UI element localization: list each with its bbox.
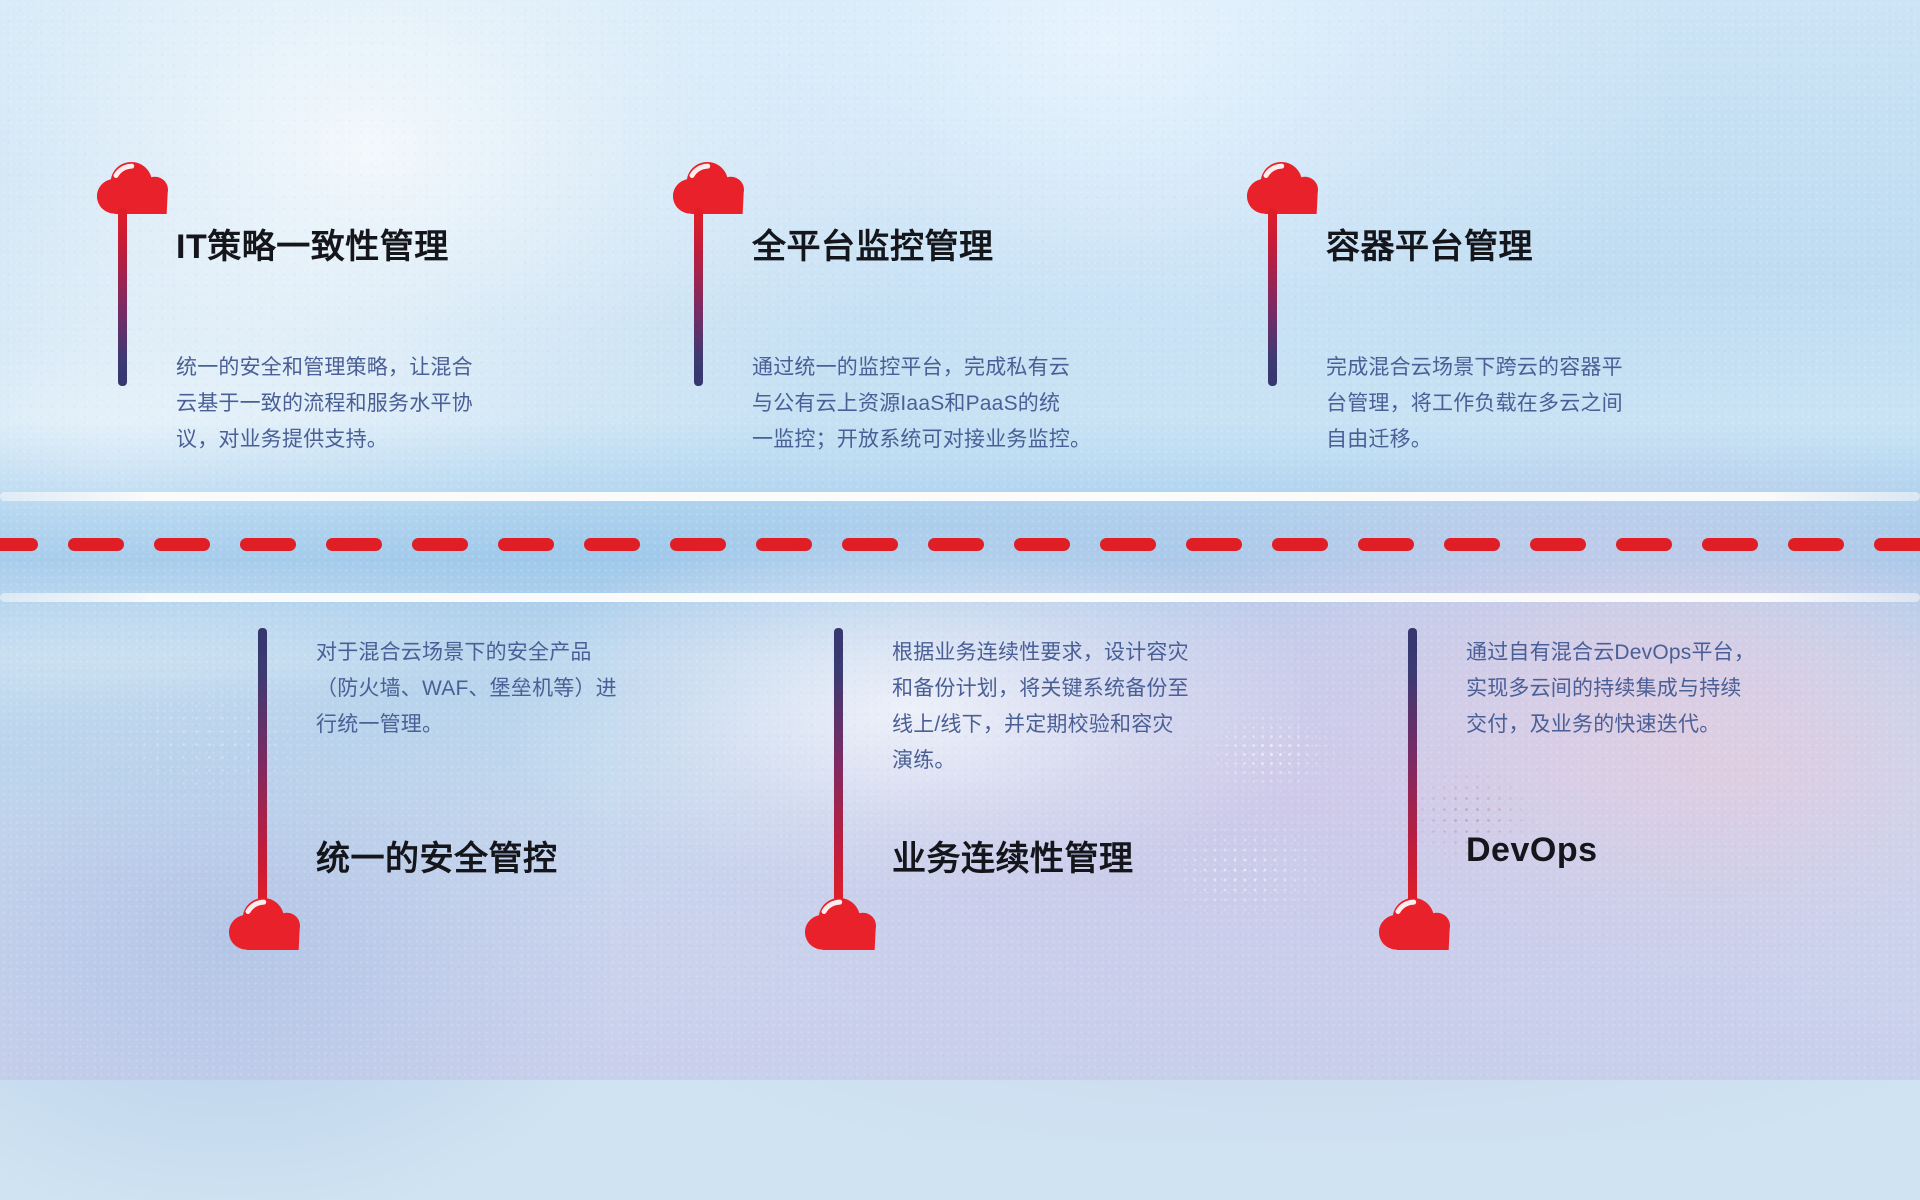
divider-dash [928, 538, 984, 551]
divider-dash [1616, 538, 1672, 551]
connector-stem [834, 628, 843, 908]
divider-dash [1100, 538, 1156, 551]
divider-dash [842, 538, 898, 551]
body-line: 交付，及业务的快速迭代。 [1466, 707, 1755, 743]
divider-dash [240, 538, 296, 551]
connector-stem [118, 208, 127, 386]
top-column-body: 统一的安全和管理策略，让混合 云基于一致的流程和服务水平协 议，对业务提供支持。 [176, 350, 473, 458]
cloud-icon [228, 896, 300, 952]
body-line: 完成混合云场景下跨云的容器平 [1326, 350, 1623, 386]
bottom-column-body: 根据业务连续性要求，设计容灾 和备份计划，将关键系统备份至 线上/线下，并定期校… [892, 635, 1189, 779]
divider-dash [326, 538, 382, 551]
bottom-column-title: DevOps [1466, 831, 1598, 870]
divider-dash [584, 538, 640, 551]
decorative-dots-c [1130, 805, 1360, 935]
body-line: 一监控；开放系统可对接业务监控。 [752, 422, 1091, 458]
connector-stem [694, 208, 703, 386]
top-column-title: IT策略一致性管理 [176, 219, 449, 268]
divider-band [0, 492, 1920, 602]
divider-dash [68, 538, 124, 551]
divider-dash [0, 538, 38, 551]
divider-dash [756, 538, 812, 551]
cloud-icon [96, 160, 168, 216]
divider-dash [1444, 538, 1500, 551]
body-line: 云基于一致的流程和服务水平协 [176, 386, 473, 422]
body-line: 通过自有混合云DevOps平台， [1466, 635, 1755, 671]
body-line: 通过统一的监控平台，完成私有云 [752, 350, 1091, 386]
body-line: 统一的安全和管理策略，让混合 [176, 350, 473, 386]
connector-stem [1408, 628, 1417, 908]
top-column-title: 容器平台管理 [1326, 219, 1533, 268]
cloud-icon [804, 896, 876, 952]
bottom-column-title: 统一的安全管控 [316, 831, 558, 880]
body-line: 演练。 [892, 743, 1189, 779]
divider-dash [1358, 538, 1414, 551]
divider-dash [1186, 538, 1242, 551]
divider-dash [412, 538, 468, 551]
divider-rule-bottom [0, 593, 1920, 602]
body-line: 行统一管理。 [316, 707, 617, 743]
connector-stem [258, 628, 267, 908]
cloud-icon [1378, 896, 1450, 952]
body-line: 自由迁移。 [1326, 422, 1623, 458]
body-line: 实现多云间的持续集成与持续 [1466, 671, 1755, 707]
divider-dash [1014, 538, 1070, 551]
body-line: 线上/线下，并定期校验和容灾 [892, 707, 1189, 743]
body-line: 和备份计划，将关键系统备份至 [892, 671, 1189, 707]
bottom-column-body: 对于混合云场景下的安全产品 （防火墙、WAF、堡垒机等）进 行统一管理。 [316, 635, 617, 743]
body-line: 根据业务连续性要求，设计容灾 [892, 635, 1189, 671]
divider-dash [1702, 538, 1758, 551]
body-line: 台管理，将工作负载在多云之间 [1326, 386, 1623, 422]
divider-dash [154, 538, 210, 551]
connector-stem [1268, 208, 1277, 386]
divider-dashed-line [0, 538, 1920, 551]
top-column-body: 通过统一的监控平台，完成私有云 与公有云上资源IaaS和PaaS的统 一监控；开… [752, 350, 1091, 458]
divider-dash [1272, 538, 1328, 551]
bottom-column-body: 通过自有混合云DevOps平台， 实现多云间的持续集成与持续 交付，及业务的快速… [1466, 635, 1755, 743]
bottom-column-title: 业务连续性管理 [892, 831, 1134, 880]
decorative-dots-a [1195, 705, 1345, 800]
cloud-icon [1246, 160, 1318, 216]
divider-rule-top [0, 492, 1920, 501]
top-column-body: 完成混合云场景下跨云的容器平 台管理，将工作负载在多云之间 自由迁移。 [1326, 350, 1623, 458]
divider-dash [1788, 538, 1844, 551]
decorative-dots-d [60, 660, 360, 830]
divider-dash [670, 538, 726, 551]
body-line: 议，对业务提供支持。 [176, 422, 473, 458]
body-line: 与公有云上资源IaaS和PaaS的统 [752, 386, 1091, 422]
body-line: 对于混合云场景下的安全产品 [316, 635, 617, 671]
divider-dash [498, 538, 554, 551]
body-line: （防火墙、WAF、堡垒机等）进 [316, 671, 617, 707]
divider-dash [1530, 538, 1586, 551]
cloud-icon [672, 160, 744, 216]
divider-dash [1874, 538, 1920, 551]
top-column-title: 全平台监控管理 [752, 219, 994, 268]
